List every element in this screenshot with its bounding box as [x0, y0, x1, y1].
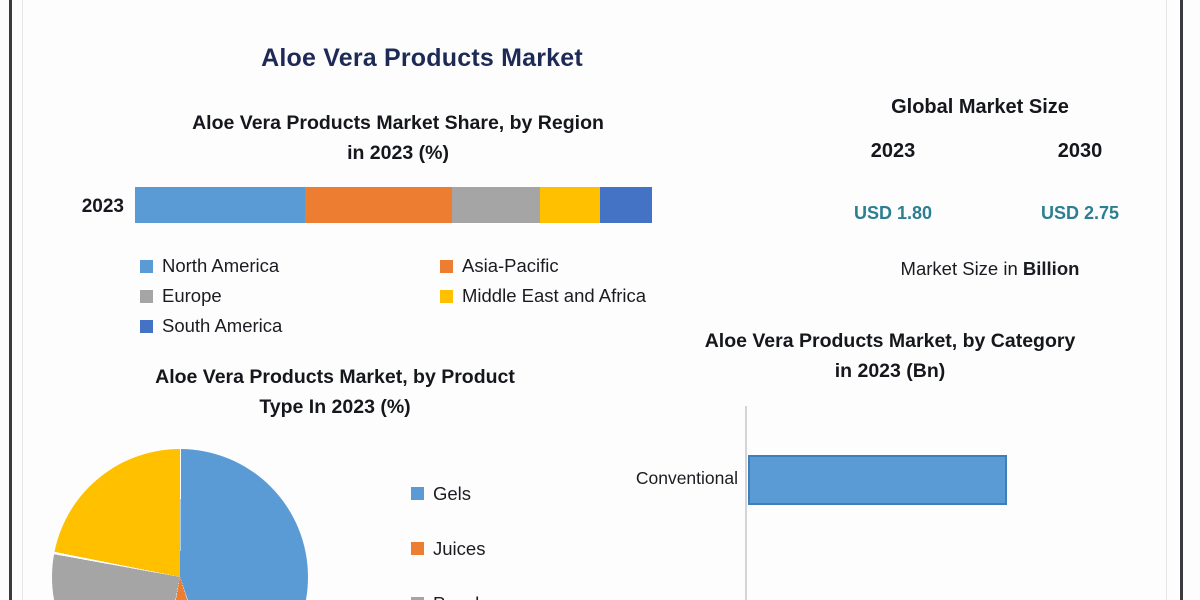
region-segment-middle-east-and-africa [540, 187, 600, 223]
frame-border-left [9, 0, 12, 600]
region-chart-title: Aloe Vera Products Market Share, by Regi… [118, 108, 678, 168]
unit-note-emphasis: Billion [1023, 258, 1080, 279]
legend-item-north-america: North America [140, 255, 440, 277]
legend-label: Asia-Pacific [462, 255, 559, 277]
legend-item-asia-pacific: Asia-Pacific [440, 255, 700, 277]
global-market-size-unit-note: Market Size in Billion [820, 258, 1160, 280]
legend-swatch-icon [140, 320, 153, 333]
legend-item-powders: Powders [411, 576, 611, 600]
category-bar-conventional [748, 455, 1007, 505]
legend-item-gels: Gels [411, 466, 611, 521]
global-market-size-value-end: USD 2.75 [1005, 203, 1155, 224]
legend-label: Europe [162, 285, 222, 307]
region-stacked-bar [135, 187, 652, 223]
legend-item-south-america: South America [140, 315, 440, 337]
legend-item-juices: Juices [411, 521, 611, 576]
cropped-top-text-fragment [955, 0, 1025, 5]
global-market-size-year-end: 2030 [1005, 140, 1155, 163]
global-market-size-year-start: 2023 [818, 140, 968, 163]
category-chart-title: Aloe Vera Products Market, by Category i… [600, 326, 1180, 386]
region-segment-north-america [135, 187, 305, 223]
region-segment-asia-pacific [305, 187, 452, 223]
region-chart-axis-label: 2023 [62, 196, 124, 218]
frame-hairline-right [1166, 0, 1167, 600]
legend-label: Gels [433, 483, 471, 505]
legend-swatch-icon [440, 290, 453, 303]
frame-hairline-left [22, 0, 23, 600]
infographic-canvas: Aloe Vera Products Market Aloe Vera Prod… [0, 0, 1200, 600]
legend-label: Powders [433, 593, 505, 600]
legend-label: North America [162, 255, 279, 277]
region-chart-title-line2: in 2023 (%) [118, 138, 678, 168]
global-market-size-title: Global Market Size [800, 96, 1160, 119]
legend-label: Middle East and Africa [462, 285, 646, 307]
product-type-chart-title: Aloe Vera Products Market, by Product Ty… [60, 362, 610, 422]
category-chart-axis [745, 406, 747, 600]
pie-slice-separators [52, 449, 308, 600]
frame-border-right [1180, 0, 1183, 600]
product-type-legend: Gels Juices Powders [411, 466, 611, 600]
region-segment-europe [452, 187, 540, 223]
product-type-pie-chart [52, 449, 308, 600]
legend-swatch-icon [411, 487, 424, 500]
page-title: Aloe Vera Products Market [232, 44, 612, 73]
legend-item-middle-east-and-africa: Middle East and Africa [440, 285, 700, 307]
legend-label: Juices [433, 538, 485, 560]
region-segment-south-america [600, 187, 652, 223]
legend-swatch-icon [140, 290, 153, 303]
legend-item-europe: Europe [140, 285, 440, 307]
legend-label: South America [162, 315, 282, 337]
product-type-chart-title-line1: Aloe Vera Products Market, by Product [60, 362, 610, 392]
region-chart-title-line1: Aloe Vera Products Market Share, by Regi… [118, 108, 678, 138]
category-chart-title-line1: Aloe Vera Products Market, by Category [600, 326, 1180, 356]
category-chart-category-label: Conventional [590, 468, 738, 489]
legend-swatch-icon [440, 260, 453, 273]
unit-note-prefix: Market Size in [901, 258, 1023, 279]
legend-swatch-icon [411, 542, 424, 555]
legend-swatch-icon [140, 260, 153, 273]
global-market-size-value-start: USD 1.80 [818, 203, 968, 224]
category-chart-title-line2: in 2023 (Bn) [600, 356, 1180, 386]
product-type-chart-title-line2: Type In 2023 (%) [60, 392, 610, 422]
